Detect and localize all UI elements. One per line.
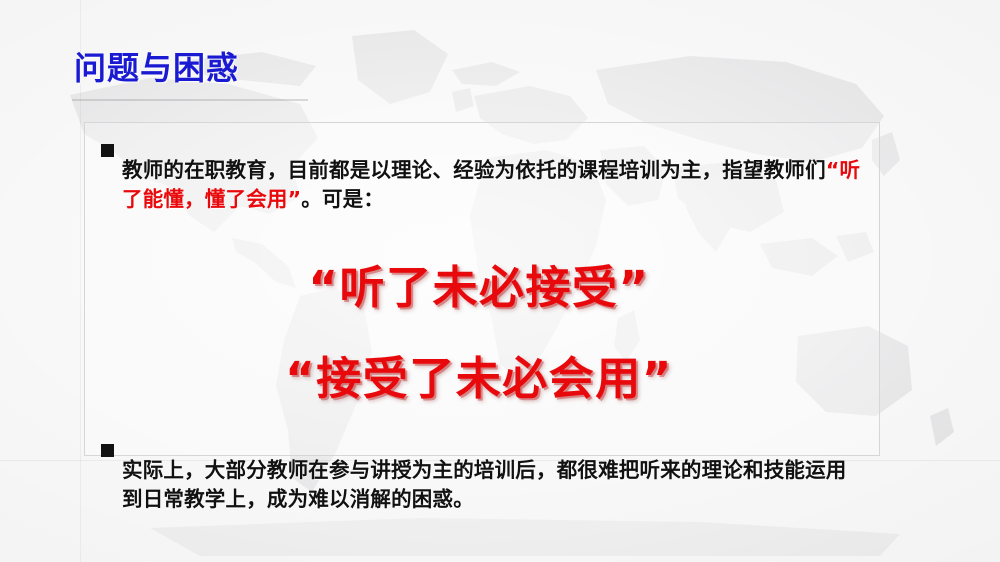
emphasis-block: “听了未必接受” “接受了未必会用” [93,261,865,405]
bullet-item-1: 教师的在职教育，目前都是以理论、经验为依托的课程培训为主，指望教师们“听了能懂，… [93,135,865,235]
bullet-item-2: 实际上，大部分教师在参与讲授为主的培训后，都很难把听来的理论和技能运用到日常教学… [93,435,865,535]
emphasis-line-2: “接受了未必会用” [93,352,865,405]
slide-title-text: 问题与困惑 [74,50,239,87]
square-bullet-icon [101,444,114,457]
slide-canvas: 问题与困惑 教师的在职教育，目前都是以理论、经验为依托的课程培训为主，指望教师们… [0,0,1000,562]
bullet-1-text: 教师的在职教育，目前都是以理论、经验为依托的课程培训为主，指望教师们“听了能懂，… [122,156,865,215]
content-box: 教师的在职教育，目前都是以理论、经验为依托的课程培训为主，指望教师们“听了能懂，… [84,122,880,456]
square-bullet-icon [101,144,114,157]
bullet-1-segment-1: 教师的在职教育，目前都是以理论、经验为依托的课程培训为主，指望教师们 [122,158,826,182]
title-underline [72,99,308,101]
bullet-2-text: 实际上，大部分教师在参与讲授为主的培训后，都很难把听来的理论和技能运用到日常教学… [122,456,865,515]
emphasis-line-1: “听了未必接受” [93,261,865,314]
bullet-1-segment-3: 。可是： [301,187,384,211]
page-title: 问题与困惑 [74,50,239,87]
